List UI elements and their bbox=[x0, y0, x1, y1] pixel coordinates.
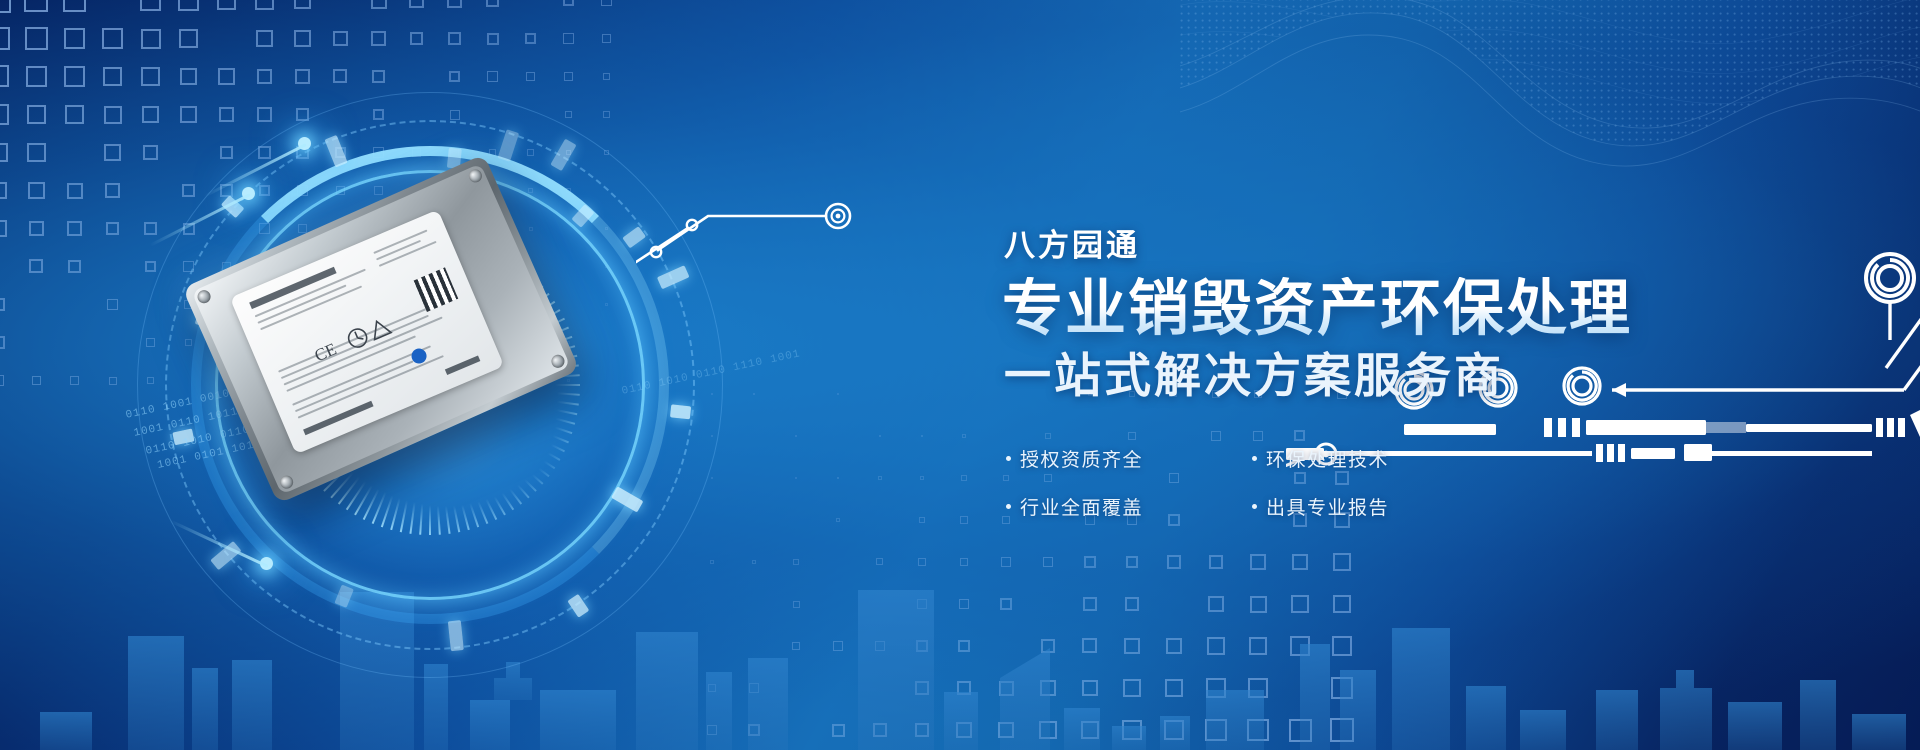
grid-square bbox=[183, 261, 194, 272]
grid-square bbox=[916, 640, 928, 652]
grid-square bbox=[566, 188, 571, 193]
grid-square bbox=[566, 150, 572, 156]
grid-square bbox=[837, 393, 840, 396]
grid-square bbox=[0, 298, 5, 312]
grid-square bbox=[529, 227, 533, 231]
promo-banner: 0110 1001 0010 1001 1001 1001 0110 1011 … bbox=[0, 0, 1920, 750]
spark-node bbox=[298, 137, 311, 150]
grid-square bbox=[961, 475, 967, 481]
grid-square bbox=[528, 188, 533, 193]
light-beam bbox=[169, 519, 268, 567]
grid-square bbox=[526, 72, 536, 82]
grid-square bbox=[107, 299, 118, 310]
grid-square bbox=[876, 558, 883, 565]
ring-inner bbox=[215, 170, 645, 600]
grid-square bbox=[752, 560, 756, 564]
grid-square bbox=[1084, 556, 1096, 568]
grid-square bbox=[0, 336, 5, 348]
binary-stream: 0110 1010 0110 1110 1001 bbox=[145, 408, 326, 458]
grid-square bbox=[921, 435, 924, 438]
grid-square bbox=[792, 642, 801, 651]
grid-square bbox=[296, 108, 310, 122]
bullet-label: 授权资质齐全 bbox=[1020, 445, 1143, 472]
grid-square bbox=[1205, 719, 1226, 740]
grid-square bbox=[219, 107, 234, 122]
city-skyline-decoration bbox=[0, 540, 1920, 750]
grid-square bbox=[26, 66, 47, 87]
hdd-blue-marker bbox=[409, 346, 429, 366]
grid-square bbox=[878, 476, 882, 480]
grid-square bbox=[64, 66, 84, 86]
grid-square bbox=[178, 0, 199, 11]
grid-square bbox=[795, 477, 798, 480]
grid-square bbox=[258, 146, 271, 159]
grid-square bbox=[529, 379, 532, 382]
grid-square bbox=[339, 379, 342, 382]
grid-square bbox=[1333, 553, 1350, 570]
grid-square bbox=[141, 67, 160, 86]
grid-square bbox=[711, 477, 714, 480]
list-item: 出具专业报告 bbox=[1252, 493, 1498, 520]
grid-square bbox=[1082, 638, 1097, 653]
grid-square bbox=[565, 111, 572, 118]
grid-square bbox=[603, 73, 611, 81]
grid-square bbox=[491, 341, 494, 344]
grid-square bbox=[999, 681, 1014, 696]
grid-square bbox=[373, 147, 383, 157]
grid-square bbox=[1000, 598, 1012, 610]
grid-square bbox=[563, 0, 575, 6]
grid-square bbox=[563, 33, 573, 43]
connector-target-ring bbox=[826, 204, 850, 228]
grid-square bbox=[920, 476, 925, 481]
bullet-label: 行业全面覆盖 bbox=[1020, 493, 1143, 520]
grid-square bbox=[106, 222, 120, 236]
grid-square bbox=[180, 68, 198, 86]
grid-square bbox=[333, 69, 347, 83]
grid-square bbox=[0, 104, 9, 125]
spark-node bbox=[242, 187, 255, 200]
bullet-dot-icon bbox=[1006, 456, 1011, 461]
hdd-qr-code bbox=[414, 267, 459, 312]
grid-square bbox=[453, 341, 456, 344]
grid-square bbox=[1333, 595, 1352, 614]
grid-square bbox=[1208, 596, 1224, 612]
binary-stream: 0110 1010 0110 1110 1001 bbox=[621, 348, 802, 398]
grid-square bbox=[335, 147, 346, 158]
binary-stream: 0110 1001 0010 1001 1001 bbox=[125, 372, 306, 422]
grid-square bbox=[0, 143, 8, 162]
grid-square bbox=[1207, 637, 1225, 655]
light-beam bbox=[150, 193, 251, 247]
grid-square bbox=[1291, 595, 1309, 613]
grid-square bbox=[109, 377, 117, 385]
grid-square bbox=[144, 222, 157, 235]
grid-square bbox=[833, 641, 843, 651]
grid-square bbox=[1250, 554, 1265, 569]
grid-square bbox=[452, 226, 458, 232]
grid-square bbox=[564, 72, 573, 81]
binary-stream: 1001 0110 1011 0010 1101 bbox=[133, 390, 314, 440]
grid-square bbox=[1083, 597, 1096, 610]
list-item: 环保处理技术 bbox=[1252, 445, 1498, 472]
grid-square bbox=[371, 0, 387, 9]
grid-square bbox=[962, 434, 966, 438]
grid-square bbox=[299, 263, 307, 271]
grid-square bbox=[1331, 677, 1353, 699]
grid-square bbox=[567, 379, 570, 382]
grid-square bbox=[338, 340, 342, 344]
grid-square bbox=[958, 640, 970, 652]
grid-square bbox=[220, 146, 234, 160]
grid-square bbox=[710, 560, 714, 564]
hdd-screw bbox=[549, 353, 566, 370]
binary-stream: 1001 0101 1010 0101 bbox=[156, 430, 300, 472]
hard-disk-drive: CE bbox=[182, 154, 579, 504]
grid-square bbox=[1248, 678, 1269, 699]
grid-square bbox=[409, 0, 424, 8]
list-item: 授权资质齐全 bbox=[1006, 445, 1252, 472]
ring-arc bbox=[191, 146, 669, 624]
bullet-dot-icon bbox=[1006, 504, 1011, 509]
grid-square bbox=[255, 0, 274, 10]
grid-square bbox=[25, 27, 48, 50]
grid-square bbox=[338, 302, 344, 308]
grid-square bbox=[28, 182, 45, 199]
grid-square bbox=[956, 722, 972, 738]
grid-square bbox=[141, 29, 161, 49]
grid-square bbox=[147, 377, 154, 384]
grid-square bbox=[67, 183, 83, 199]
grid-square bbox=[529, 265, 532, 268]
grid-square bbox=[220, 184, 233, 197]
list-item: 行业全面覆盖 bbox=[1006, 493, 1252, 520]
grid-square bbox=[297, 185, 308, 196]
grid-square bbox=[299, 301, 306, 308]
grid-square bbox=[837, 477, 840, 480]
grid-square bbox=[0, 65, 9, 87]
grid-square bbox=[415, 303, 419, 307]
grid-square bbox=[1123, 679, 1141, 697]
grid-square bbox=[1043, 557, 1054, 568]
grid-square bbox=[915, 681, 928, 694]
grid-square bbox=[793, 601, 800, 608]
ring-outer bbox=[137, 92, 723, 678]
grid-square bbox=[294, 30, 310, 46]
grid-square bbox=[527, 149, 534, 156]
grid-square bbox=[103, 67, 123, 87]
grid-square bbox=[793, 559, 798, 564]
grid-square bbox=[1206, 678, 1226, 698]
grid-square bbox=[1332, 636, 1353, 657]
grid-square bbox=[748, 724, 759, 735]
grid-square bbox=[915, 723, 930, 738]
grid-square bbox=[294, 0, 312, 9]
grid-square bbox=[1122, 720, 1141, 739]
grid-square bbox=[873, 723, 887, 737]
grid-square bbox=[184, 300, 193, 309]
grid-square bbox=[180, 106, 196, 122]
grid-square bbox=[1039, 721, 1057, 739]
grid-square bbox=[749, 683, 759, 693]
grid-square bbox=[1001, 557, 1011, 567]
grid-square bbox=[102, 28, 123, 49]
grid-square bbox=[185, 339, 193, 347]
grid-square bbox=[1165, 679, 1184, 698]
grid-square bbox=[447, 0, 461, 8]
grid-square bbox=[412, 148, 422, 158]
grid-square bbox=[711, 393, 714, 396]
grid-square bbox=[104, 106, 122, 124]
grid-square bbox=[372, 70, 385, 83]
grid-square bbox=[708, 684, 717, 693]
hdd-screw bbox=[278, 474, 295, 491]
grid-square bbox=[68, 260, 81, 273]
grid-square bbox=[373, 109, 385, 121]
grid-square bbox=[64, 28, 86, 50]
grid-square bbox=[145, 261, 157, 273]
grid-square bbox=[105, 183, 120, 198]
grid-square bbox=[0, 182, 7, 200]
hdd-screw bbox=[195, 288, 212, 305]
grid-square bbox=[998, 722, 1015, 739]
grid-square bbox=[301, 379, 305, 383]
grid-square bbox=[256, 30, 273, 47]
grid-square bbox=[1167, 555, 1181, 569]
grid-square bbox=[259, 223, 269, 233]
grid-square bbox=[29, 221, 45, 237]
feature-bullet-list: 授权资质齐全 环保处理技术 行业全面覆盖 出具专业报告 bbox=[1006, 445, 1506, 541]
grid-square bbox=[453, 379, 456, 382]
grid-square bbox=[1126, 556, 1139, 569]
ring-dashed bbox=[165, 120, 695, 650]
grid-square bbox=[602, 34, 611, 43]
grid-square bbox=[29, 259, 43, 273]
grid-square bbox=[1290, 636, 1310, 656]
square-grid-top-left bbox=[0, 0, 632, 406]
grid-square bbox=[65, 105, 84, 124]
grid-square bbox=[1247, 719, 1269, 741]
grid-square bbox=[919, 517, 925, 523]
grid-square bbox=[450, 148, 459, 157]
grid-square bbox=[262, 340, 268, 346]
grid-square bbox=[490, 226, 495, 231]
grid-square bbox=[832, 724, 845, 737]
brand-eyebrow: 八方园通 bbox=[1004, 230, 1702, 261]
grid-square bbox=[333, 31, 349, 47]
grid-square bbox=[0, 27, 10, 51]
grid-square bbox=[487, 71, 498, 82]
grid-square bbox=[960, 558, 969, 567]
grid-square bbox=[259, 185, 271, 197]
connector-node bbox=[687, 220, 697, 230]
grid-square bbox=[142, 106, 159, 123]
grid-square bbox=[605, 227, 608, 230]
grid-square bbox=[1124, 638, 1140, 654]
grid-square bbox=[67, 221, 82, 236]
grid-square bbox=[1209, 555, 1223, 569]
grid-square bbox=[486, 0, 499, 7]
grid-square bbox=[183, 223, 195, 235]
grid-square bbox=[32, 376, 42, 386]
grid-square bbox=[567, 341, 570, 344]
bullet-label: 环保处理技术 bbox=[1266, 445, 1389, 472]
grid-square bbox=[415, 341, 418, 344]
light-beam bbox=[204, 143, 307, 197]
grid-square bbox=[605, 265, 608, 268]
grid-square bbox=[377, 341, 380, 344]
banner-copy-block: 八方园通 专业销毁资产环保处理 一站式解决方案服务商 授权资质齐全 环保处理技术… bbox=[1002, 230, 1702, 541]
grid-square bbox=[0, 220, 7, 236]
grid-square bbox=[410, 32, 424, 46]
hdd-interface-text bbox=[445, 355, 480, 375]
grid-square bbox=[222, 300, 230, 308]
grid-square bbox=[295, 69, 310, 84]
grid-square bbox=[257, 107, 272, 122]
circuit-corner-node bbox=[1816, 236, 1920, 356]
hdd-tech-ring-graphic: 0110 1001 0010 1001 1001 1001 0110 1011 … bbox=[120, 75, 740, 695]
grid-square bbox=[0, 375, 4, 386]
grid-square bbox=[300, 340, 305, 345]
bullet-label: 出具专业报告 bbox=[1266, 493, 1389, 520]
grid-square bbox=[1292, 554, 1308, 570]
spark-node bbox=[260, 557, 273, 570]
grid-square bbox=[1330, 718, 1354, 742]
grid-square bbox=[489, 149, 497, 157]
grid-square bbox=[957, 681, 971, 695]
grid-square bbox=[449, 71, 461, 83]
grid-square bbox=[487, 33, 499, 45]
grid-square bbox=[0, 0, 11, 13]
grid-square bbox=[1082, 680, 1099, 697]
grid-square bbox=[1289, 719, 1312, 742]
grid-square bbox=[917, 599, 927, 609]
grid-square bbox=[146, 338, 155, 347]
grid-square bbox=[960, 516, 967, 523]
grid-square bbox=[1249, 637, 1268, 656]
grid-square bbox=[448, 32, 461, 45]
grid-square bbox=[143, 145, 159, 161]
grid-square bbox=[707, 725, 717, 735]
grid-square bbox=[491, 379, 494, 382]
grid-square bbox=[604, 150, 609, 155]
grid-square bbox=[1125, 597, 1139, 611]
page-subtitle: 一站式解决方案服务商 bbox=[1004, 350, 1702, 403]
grid-square bbox=[104, 144, 121, 161]
grid-square bbox=[262, 378, 267, 383]
grid-square bbox=[63, 0, 86, 12]
hdd-cert-marks: CE bbox=[310, 307, 409, 368]
grid-square bbox=[27, 143, 45, 161]
grid-square bbox=[1040, 680, 1056, 696]
grid-square bbox=[601, 0, 612, 6]
grid-square bbox=[1164, 720, 1184, 740]
page-title: 专业销毁资产环保处理 bbox=[1002, 277, 1702, 340]
grid-square bbox=[140, 0, 161, 11]
grid-square bbox=[605, 303, 608, 306]
grid-square bbox=[376, 302, 381, 307]
svg-text:CE: CE bbox=[312, 339, 339, 365]
ring-glow bbox=[120, 75, 740, 695]
grid-square bbox=[1166, 638, 1183, 655]
grid-square bbox=[257, 69, 273, 85]
grid-square bbox=[182, 184, 195, 197]
grid-square bbox=[298, 224, 307, 233]
grid-square bbox=[875, 641, 886, 652]
grid-square bbox=[296, 146, 308, 158]
grid-square bbox=[959, 599, 970, 610]
grid-square bbox=[753, 393, 756, 396]
grid-square bbox=[1081, 721, 1100, 740]
connector-node bbox=[651, 247, 661, 257]
hdd-model-text bbox=[303, 401, 373, 435]
grid-square bbox=[452, 264, 456, 268]
grid-square bbox=[879, 435, 882, 438]
grid-square bbox=[374, 186, 383, 195]
grid-square bbox=[218, 68, 235, 85]
grid-square bbox=[336, 186, 346, 196]
grid-square bbox=[27, 105, 47, 125]
grid-square bbox=[222, 262, 232, 272]
grid-square bbox=[489, 187, 495, 193]
bullet-dot-icon bbox=[1252, 456, 1257, 461]
bullet-dot-icon bbox=[1252, 504, 1257, 509]
hdd-label: CE bbox=[230, 210, 504, 455]
hdd-chassis bbox=[182, 154, 579, 504]
hdd-screw bbox=[467, 167, 484, 184]
connector-line bbox=[636, 176, 906, 266]
grid-square bbox=[491, 265, 494, 268]
grid-square bbox=[217, 0, 237, 10]
grid-square bbox=[24, 0, 48, 12]
grid-square bbox=[918, 558, 926, 566]
grid-square bbox=[451, 187, 458, 194]
grid-square bbox=[70, 376, 79, 385]
grid-square bbox=[711, 435, 714, 438]
grid-square bbox=[603, 111, 610, 118]
grid-square bbox=[836, 518, 841, 523]
grid-square bbox=[1041, 639, 1055, 653]
grid-square bbox=[413, 187, 421, 195]
grid-square bbox=[795, 435, 798, 438]
grid-square bbox=[525, 33, 536, 44]
grid-square bbox=[179, 29, 198, 48]
grid-square bbox=[1250, 596, 1267, 613]
hdd-top-cover bbox=[192, 163, 571, 494]
grid-square bbox=[371, 31, 386, 46]
grid-square bbox=[450, 110, 460, 120]
